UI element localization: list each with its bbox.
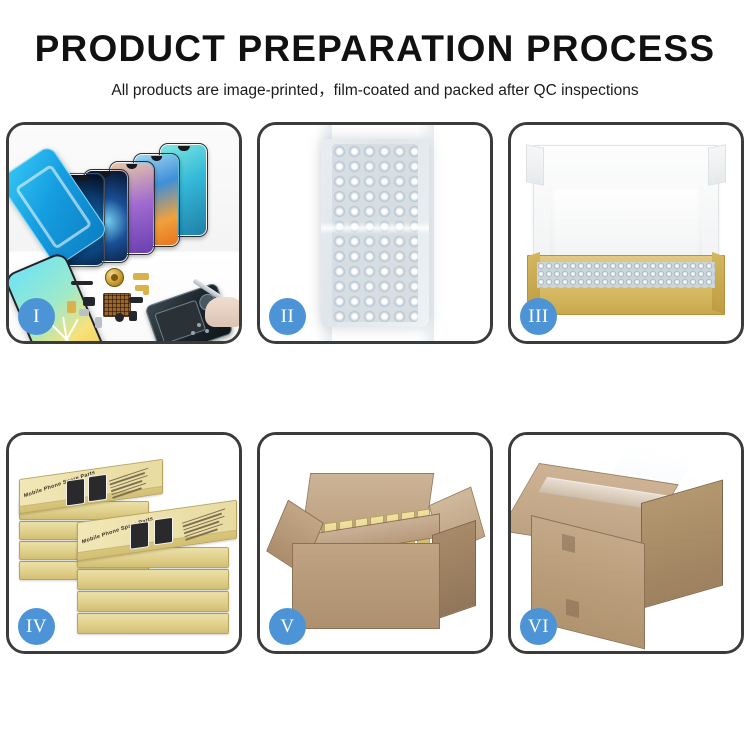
side-key-icon — [143, 285, 149, 295]
step-panel-6: VI — [508, 432, 744, 654]
step-panel-5: V — [257, 432, 493, 654]
steps-grid: I II — [4, 122, 746, 654]
earpiece-icon — [129, 311, 137, 321]
foam-sheet-icon — [550, 186, 702, 260]
bubble-wrapped-product-icon — [537, 262, 715, 288]
antenna-strip-icon — [71, 281, 93, 285]
bubble-wrap-pouch-icon — [321, 139, 429, 327]
product-preparation-infographic: PRODUCT PREPARATION PROCESS All products… — [0, 0, 750, 750]
box-lid-icon — [533, 145, 719, 263]
flex-cable-icon — [133, 273, 149, 280]
carton-front-icon — [292, 543, 440, 629]
camera-module-icon — [83, 297, 95, 306]
header: PRODUCT PREPARATION PROCESS All products… — [0, 0, 750, 100]
kraft-box-base-icon — [527, 255, 725, 315]
carton-right-face-icon — [641, 480, 723, 610]
bracket-icon — [79, 309, 89, 316]
sim-tray-icon — [95, 317, 102, 328]
page-title: PRODUCT PREPARATION PROCESS — [0, 28, 750, 69]
step-panel-3: III — [508, 122, 744, 344]
connector-icon — [129, 297, 143, 303]
step-panel-2: II — [257, 122, 493, 344]
page-subtitle: All products are image-printed，film-coat… — [0, 78, 750, 100]
step-panel-1: I — [6, 122, 242, 344]
step-panel-4: Mobile Phone Spare Parts — [6, 432, 242, 654]
hand-icon — [205, 297, 239, 327]
button-flex-icon — [67, 301, 76, 313]
